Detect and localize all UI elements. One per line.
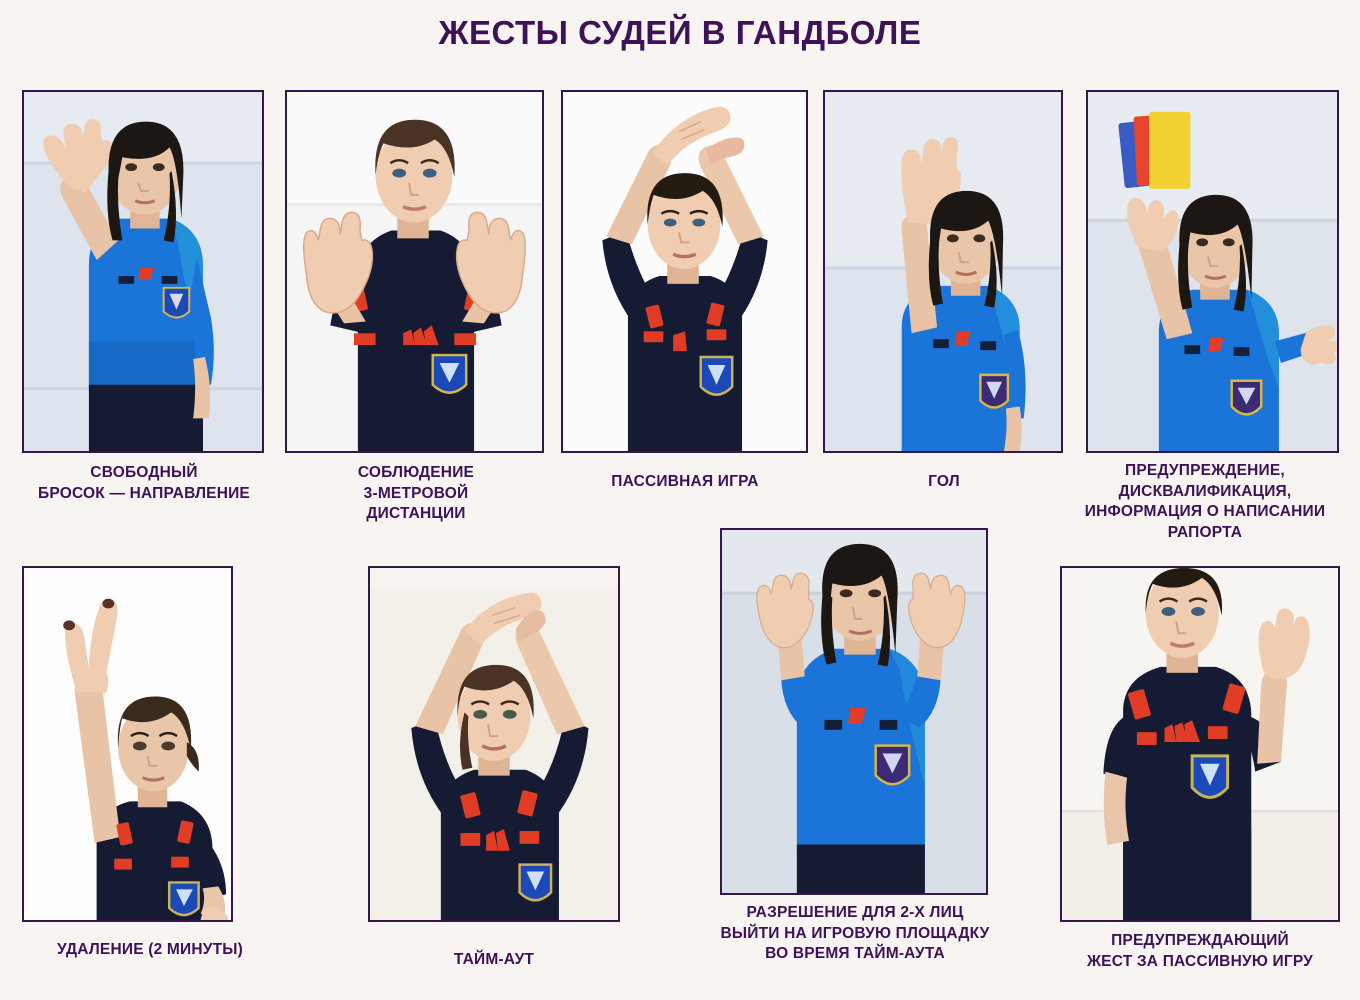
caption-line: ПРЕДУПРЕЖДАЮЩИЙ (1048, 931, 1352, 952)
photo-scene (825, 92, 1061, 451)
photo-scene (1062, 568, 1338, 920)
gesture-caption-warning-disqualification-report: ПРЕДУПРЕЖДЕНИЕ, ДИСКВАЛИФИКАЦИЯ, ИНФОРМА… (1052, 461, 1358, 543)
referee-figure-warning-cards (1088, 92, 1337, 451)
referee-figure-time-out (370, 568, 618, 920)
caption-line: ИНФОРМАЦИЯ О НАПИСАНИИ (1052, 502, 1358, 523)
caption-line: ВЫЙТИ НА ИГРОВУЮ ПЛОЩАДКУ (700, 924, 1010, 945)
photo-scene (24, 92, 262, 451)
referee-figure-passive-warning (1062, 568, 1338, 920)
gesture-card-goal (823, 90, 1063, 453)
gesture-caption-two-persons-enter-court: РАЗРЕШЕНИЕ ДЛЯ 2-Х ЛИЦ ВЫЙТИ НА ИГРОВУЮ … (700, 903, 1010, 965)
gesture-photo-time-out (368, 566, 620, 922)
caption-line: ТАЙМ-АУТ (360, 950, 628, 971)
gesture-photo-passive-play (561, 90, 808, 453)
gesture-photo-two-persons-enter-court (720, 528, 988, 895)
photo-scene (24, 568, 231, 920)
caption-line: ПРЕДУПРЕЖДЕНИЕ, (1052, 461, 1358, 482)
photo-scene (722, 530, 986, 893)
gesture-photo-suspension-two-minutes (22, 566, 233, 922)
gesture-caption-free-throw-direction: СВОБОДНЫЙ БРОСОК — НАПРАВЛЕНИЕ (0, 463, 288, 504)
gesture-caption-time-out: ТАЙМ-АУТ (360, 950, 628, 971)
referee-figure-passive-play (563, 92, 806, 451)
photo-scene (1088, 92, 1337, 451)
caption-line: УДАЛЕНИЕ (2 МИНУТЫ) (0, 940, 300, 961)
caption-line: ПАССИВНАЯ ИГРА (556, 472, 814, 493)
gesture-photo-goal (823, 90, 1063, 453)
gesture-card-two-persons-enter-court (720, 528, 988, 895)
gesture-photo-warning-disqualification-report (1086, 90, 1339, 453)
gesture-caption-suspension-two-minutes: УДАЛЕНИЕ (2 МИНУТЫ) (0, 940, 300, 961)
gesture-card-free-throw-direction (22, 90, 264, 453)
referee-figure-two-persons (722, 530, 986, 893)
caption-line: РАПОРТА (1052, 523, 1358, 544)
caption-line: ГОЛ (820, 472, 1068, 493)
caption-line: БРОСОК — НАПРАВЛЕНИЕ (0, 484, 288, 505)
gesture-card-passive-play-warning (1060, 566, 1340, 922)
referee-figure-three-meter-distance (287, 92, 542, 451)
gesture-photo-free-throw-direction (22, 90, 264, 453)
photo-scene (287, 92, 542, 451)
gesture-caption-goal: ГОЛ (820, 472, 1068, 493)
caption-line: СВОБОДНЫЙ (0, 463, 288, 484)
caption-line: СОБЛЮДЕНИЕ (288, 463, 544, 484)
referee-figure-free-throw-direction (24, 92, 262, 451)
caption-line: ДИСТАНЦИИ (288, 504, 544, 525)
photo-scene (370, 568, 618, 920)
gesture-card-passive-play (561, 90, 808, 453)
gesture-photo-three-meter-distance (285, 90, 544, 453)
photo-scene (563, 92, 806, 451)
gesture-caption-passive-play-warning: ПРЕДУПРЕЖДАЮЩИЙ ЖЕСТ ЗА ПАССИВНУЮ ИГРУ (1048, 931, 1352, 972)
caption-line: 3-МЕТРОВОЙ (288, 484, 544, 505)
caption-line: ВО ВРЕМЯ ТАЙМ-АУТА (700, 944, 1010, 965)
caption-line: РАЗРЕШЕНИЕ ДЛЯ 2-Х ЛИЦ (700, 903, 1010, 924)
caption-line: ЖЕСТ ЗА ПАССИВНУЮ ИГРУ (1048, 952, 1352, 973)
gesture-card-time-out (368, 566, 620, 922)
caption-line: ДИСКВАЛИФИКАЦИЯ, (1052, 482, 1358, 503)
page-title: ЖЕСТЫ СУДЕЙ В ГАНДБОЛЕ (0, 14, 1360, 52)
referee-figure-goal (825, 92, 1061, 451)
poster-root: ЖЕСТЫ СУДЕЙ В ГАНДБОЛЕ (0, 0, 1360, 1000)
gesture-caption-three-meter-distance: СОБЛЮДЕНИЕ 3-МЕТРОВОЙ ДИСТАНЦИИ (288, 463, 544, 525)
gesture-card-suspension-two-minutes (22, 566, 233, 922)
gesture-caption-passive-play: ПАССИВНАЯ ИГРА (556, 472, 814, 493)
referee-figure-suspension (24, 568, 231, 920)
gesture-card-three-meter-distance (285, 90, 544, 453)
gesture-photo-passive-play-warning (1060, 566, 1340, 922)
gesture-card-warning-disqualification-report (1086, 90, 1339, 453)
